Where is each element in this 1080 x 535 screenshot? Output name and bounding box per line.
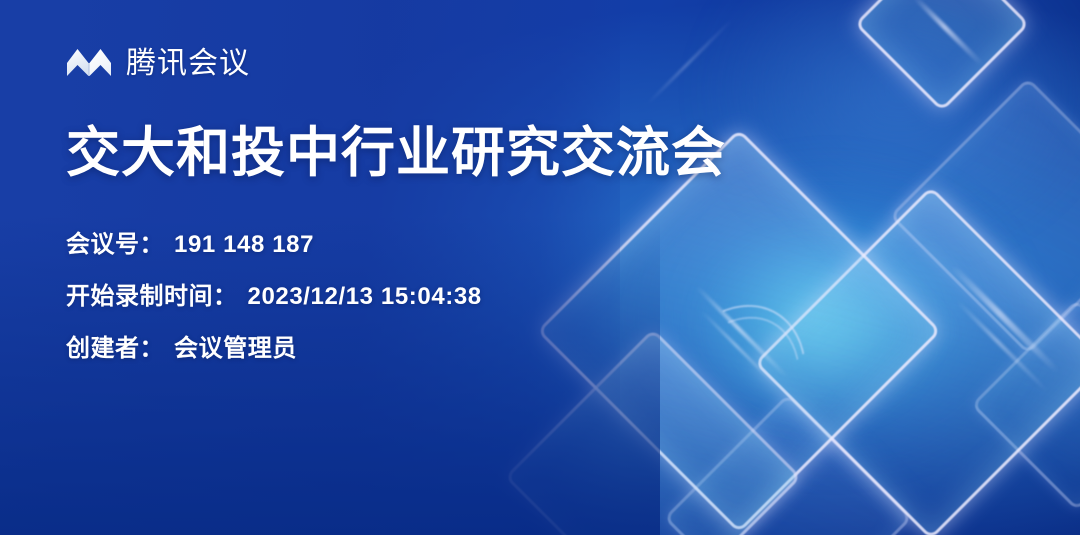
record-start-time-row: 开始录制时间： 2023/12/13 15:04:38 xyxy=(66,276,482,328)
creator-label: 创建者： xyxy=(66,328,164,363)
creator-value: 会议管理员 xyxy=(174,328,297,363)
recording-cover-screen: 腾讯会议 交大和投中行业研究交流会 会议号： 191 148 187 开始录制时… xyxy=(0,0,1080,535)
meeting-id-label: 会议号： xyxy=(66,224,164,259)
creator-row: 创建者： 会议管理员 xyxy=(66,328,482,380)
cover-content: 腾讯会议 交大和投中行业研究交流会 会议号： 191 148 187 开始录制时… xyxy=(66,0,706,535)
brand-name: 腾讯会议 xyxy=(126,49,250,79)
record-start-time-value: 2023/12/13 15:04:38 xyxy=(248,283,482,311)
glass-diamond-top-right xyxy=(854,0,1029,112)
tencent-meeting-logo-icon xyxy=(66,48,112,79)
meeting-title: 交大和投中行业研究交流会 xyxy=(66,124,726,183)
meeting-id-value: 191 148 187 xyxy=(174,231,314,259)
meeting-id-row: 会议号： 191 148 187 xyxy=(66,224,482,276)
meeting-details: 会议号： 191 148 187 开始录制时间： 2023/12/13 15:0… xyxy=(66,224,482,380)
record-start-time-label: 开始录制时间： xyxy=(66,276,238,311)
brand-lockup: 腾讯会议 xyxy=(66,48,250,79)
